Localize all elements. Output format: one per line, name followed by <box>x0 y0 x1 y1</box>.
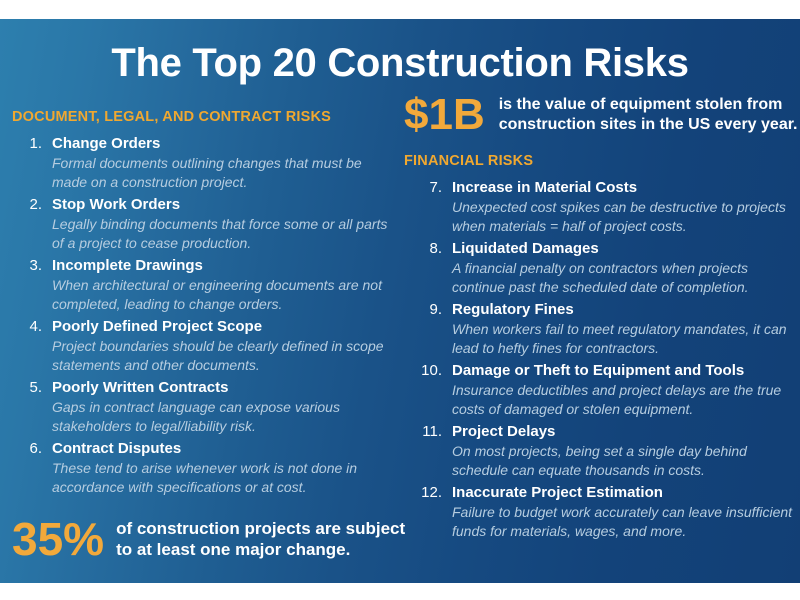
risk-title: Damage or Theft to Equipment and Tools <box>452 361 794 381</box>
risk-number: 12. <box>404 483 442 503</box>
risk-description: These tend to arise whenever work is not… <box>52 459 394 496</box>
risk-description: Formal documents outlining changes that … <box>52 154 394 191</box>
risk-list-right: 7. Increase in Material Costs Unexpected… <box>404 178 794 540</box>
risk-body: Contract Disputes These tend to arise wh… <box>12 439 394 496</box>
risk-body: Liquidated Damages A financial penalty o… <box>404 239 794 296</box>
risk-description: On most projects, being set a single day… <box>452 442 794 479</box>
risk-number: 11. <box>404 422 442 442</box>
risk-title: Increase in Material Costs <box>452 178 794 198</box>
stat-text-block: of construction projects are subject to … <box>116 518 405 560</box>
risk-title: Project Delays <box>452 422 794 442</box>
list-item: 7. Increase in Material Costs Unexpected… <box>404 178 794 235</box>
risk-description: Project boundaries should be clearly def… <box>52 337 394 374</box>
section-header-document-legal-contract: DOCUMENT, LEGAL, AND CONTRACT RISKS <box>12 109 394 125</box>
risk-description: Legally binding documents that force som… <box>52 215 394 252</box>
risk-body: Inaccurate Project Estimation Failure to… <box>404 483 794 540</box>
risk-number: 8. <box>404 239 442 259</box>
risk-title: Liquidated Damages <box>452 239 794 259</box>
risk-list-left: 1. Change Orders Formal documents outlin… <box>12 134 394 496</box>
risk-title: Change Orders <box>52 134 394 154</box>
page-title: The Top 20 Construction Risks <box>0 41 800 86</box>
risk-number: 4. <box>12 317 42 337</box>
list-item: 2. Stop Work Orders Legally binding docu… <box>12 195 394 252</box>
list-item: 3. Incomplete Drawings When architectura… <box>12 256 394 313</box>
infographic-poster: The Top 20 Construction Risks DOCUMENT, … <box>0 0 800 600</box>
risk-body: Regulatory Fines When workers fail to me… <box>404 300 794 357</box>
stat-line-1: of construction projects are subject <box>116 518 405 539</box>
list-item: 11. Project Delays On most projects, bei… <box>404 422 794 479</box>
risk-body: Change Orders Formal documents outlining… <box>12 134 394 191</box>
stat-figure: 35% <box>12 516 104 562</box>
list-item: 10. Damage or Theft to Equipment and Too… <box>404 361 794 418</box>
risk-description: Insurance deductibles and project delays… <box>452 381 794 418</box>
list-item: 8. Liquidated Damages A financial penalt… <box>404 239 794 296</box>
section-header-financial-risks: FINANCIAL RISKS <box>404 153 794 169</box>
risk-description: When workers fail to meet regulatory man… <box>452 320 794 357</box>
risk-body: Project Delays On most projects, being s… <box>404 422 794 479</box>
left-column: DOCUMENT, LEGAL, AND CONTRACT RISKS 1. C… <box>12 109 394 496</box>
stat-line-2: construction sites in the US every year. <box>499 115 798 135</box>
risk-body: Stop Work Orders Legally binding documen… <box>12 195 394 252</box>
risk-title: Incomplete Drawings <box>52 256 394 276</box>
risk-number: 10. <box>404 361 442 381</box>
risk-title: Inaccurate Project Estimation <box>452 483 794 503</box>
risk-number: 6. <box>12 439 42 459</box>
risk-title: Regulatory Fines <box>452 300 794 320</box>
risk-title: Stop Work Orders <box>52 195 394 215</box>
risk-description: Gaps in contract language can expose var… <box>52 398 394 435</box>
list-item: 9. Regulatory Fines When workers fail to… <box>404 300 794 357</box>
list-item: 6. Contract Disputes These tend to arise… <box>12 439 394 496</box>
list-item: 1. Change Orders Formal documents outlin… <box>12 134 394 191</box>
risk-body: Poorly Written Contracts Gaps in contrac… <box>12 378 394 435</box>
risk-body: Increase in Material Costs Unexpected co… <box>404 178 794 235</box>
risk-body: Poorly Defined Project Scope Project bou… <box>12 317 394 374</box>
list-item: 4. Poorly Defined Project Scope Project … <box>12 317 394 374</box>
risk-description: Failure to budget work accurately can le… <box>452 503 794 540</box>
stat-text-block: is the value of equipment stolen from co… <box>499 95 798 135</box>
stat-equipment-theft: $1B is the value of equipment stolen fro… <box>404 93 794 137</box>
risk-number: 3. <box>12 256 42 276</box>
stat-major-change: 35% of construction projects are subject… <box>12 516 394 562</box>
risk-title: Poorly Written Contracts <box>52 378 394 398</box>
risk-number: 2. <box>12 195 42 215</box>
risk-number: 5. <box>12 378 42 398</box>
stat-figure: $1B <box>404 93 485 137</box>
stat-line-1: is the value of equipment stolen from <box>499 95 798 115</box>
risk-number: 9. <box>404 300 442 320</box>
risk-number: 7. <box>404 178 442 198</box>
list-item: 5. Poorly Written Contracts Gaps in cont… <box>12 378 394 435</box>
risk-title: Contract Disputes <box>52 439 394 459</box>
right-column: $1B is the value of equipment stolen fro… <box>404 93 794 540</box>
risk-body: Damage or Theft to Equipment and Tools I… <box>404 361 794 418</box>
risk-number: 1. <box>12 134 42 154</box>
gradient-background: The Top 20 Construction Risks DOCUMENT, … <box>0 19 800 583</box>
risk-body: Incomplete Drawings When architectural o… <box>12 256 394 313</box>
risk-description: A financial penalty on contractors when … <box>452 259 794 296</box>
risk-description: Unexpected cost spikes can be destructiv… <box>452 198 794 235</box>
risk-description: When architectural or engineering docume… <box>52 276 394 313</box>
stat-line-2: to at least one major change. <box>116 539 405 560</box>
risk-title: Poorly Defined Project Scope <box>52 317 394 337</box>
list-item: 12. Inaccurate Project Estimation Failur… <box>404 483 794 540</box>
